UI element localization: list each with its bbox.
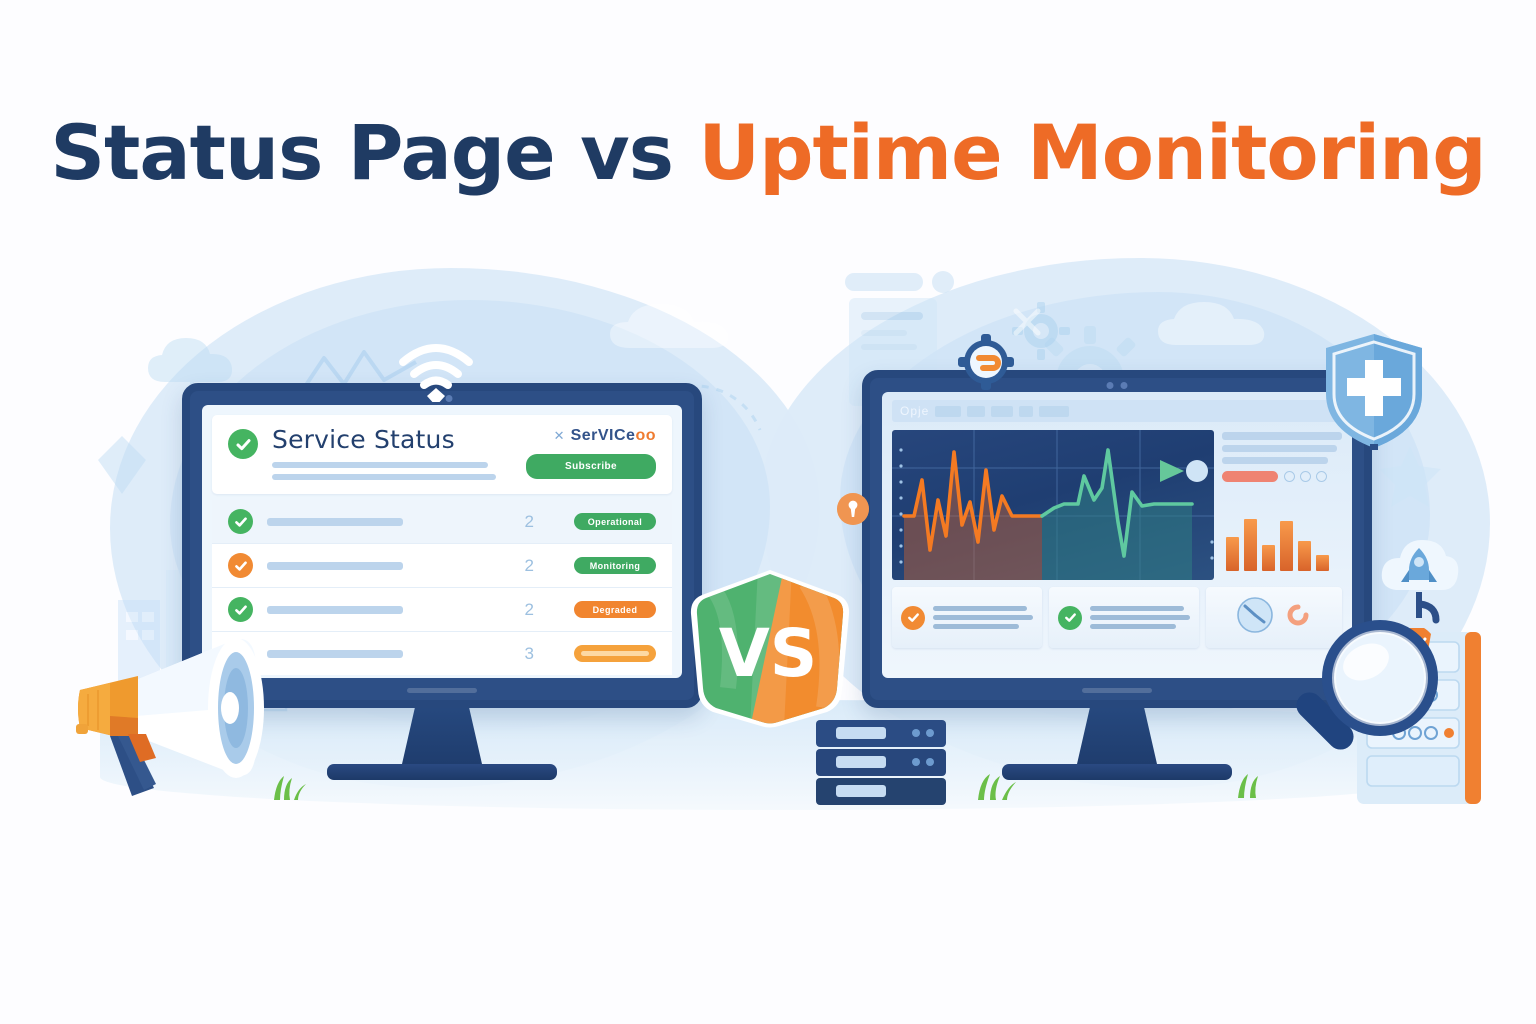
alert-badge [1222, 471, 1278, 482]
placeholder-line [1090, 606, 1184, 611]
placeholder-line [933, 624, 1019, 629]
dashboard-card[interactable] [1049, 587, 1199, 648]
placeholder-line [933, 606, 1027, 611]
table-row[interactable]: 2 Operational [212, 500, 672, 544]
illustration-canvas: Service Status ✕ SerVICeoo Subscribe [0, 0, 1536, 1024]
page-title: Status Page vs Uptime Monitoring [0, 108, 1536, 197]
table-row[interactable]: 2 Monitoring [212, 544, 672, 588]
brand-label: SerVICeoo [571, 427, 656, 445]
placeholder-line [272, 462, 488, 468]
monitor-stand-base [1002, 764, 1232, 780]
ring-indicators [1284, 471, 1327, 482]
row-count: 2 [525, 512, 534, 532]
play-triangle-icon [1160, 460, 1184, 482]
check-circle-icon [901, 606, 925, 630]
placeholder-line [267, 606, 403, 614]
placeholder-line [272, 474, 496, 480]
topbar-label: Opje [900, 404, 929, 418]
monitor-stand-neck [402, 708, 482, 764]
monitor-stand-base [327, 764, 557, 780]
status-badge [574, 645, 656, 662]
check-circle-icon [228, 553, 253, 578]
subscribe-button[interactable]: Subscribe [526, 454, 656, 479]
placeholder-line [1090, 624, 1176, 629]
star-icon [1375, 440, 1445, 510]
row-count: 2 [525, 556, 534, 576]
row-count: 3 [525, 644, 534, 664]
grass-icon [972, 768, 1018, 805]
status-page-header: Service Status ✕ SerVICeoo Subscribe [212, 415, 672, 494]
pill-shape [845, 268, 965, 296]
shield-cross-icon [1322, 332, 1426, 450]
check-circle-icon [228, 429, 258, 459]
location-pin-icon [92, 430, 152, 500]
row-count: 2 [525, 600, 534, 620]
placeholder-line [1222, 457, 1328, 464]
dashboard-card[interactable] [892, 587, 1042, 648]
gauge-icon [1235, 595, 1275, 640]
check-circle-icon [1058, 606, 1082, 630]
dashboard-topbar[interactable]: Opje [892, 400, 1342, 422]
vs-badge: VS [688, 568, 852, 728]
cloud-icon [1150, 295, 1280, 355]
progress-bar [581, 651, 649, 656]
title-part-status-page: Status Page vs [50, 108, 698, 197]
chart-svg [892, 430, 1214, 580]
placeholder-line [1090, 615, 1190, 620]
placeholder-line [267, 562, 403, 570]
close-icon [1010, 305, 1044, 339]
monitor-stand-neck [1077, 708, 1157, 764]
status-badge: Operational [574, 513, 656, 530]
bar-chart [1222, 499, 1342, 576]
grass-icon [268, 772, 308, 805]
status-badge: Monitoring [574, 557, 656, 574]
webcam-dots [1107, 382, 1128, 389]
placeholder-line [933, 615, 1033, 620]
placeholder-line [267, 518, 403, 526]
status-badge: Degraded [574, 601, 656, 618]
magnifying-glass-icon [1282, 608, 1462, 788]
page-title: Service Status [272, 427, 496, 452]
wifi-icon [395, 338, 477, 402]
uptime-chart [892, 430, 1214, 580]
close-icon: ✕ [554, 428, 565, 444]
server-stack-icon [812, 718, 972, 810]
lock-badge-icon [836, 492, 870, 526]
gear-badge-icon [958, 334, 1014, 390]
status-dot [1186, 460, 1208, 482]
placeholder-line [1222, 445, 1337, 452]
check-circle-icon [228, 509, 253, 534]
dashboard-sidebar [1222, 430, 1342, 580]
title-part-uptime-monitoring: Uptime Monitoring [698, 108, 1485, 197]
grass-icon [1232, 770, 1272, 803]
vs-label: VS [719, 615, 818, 692]
